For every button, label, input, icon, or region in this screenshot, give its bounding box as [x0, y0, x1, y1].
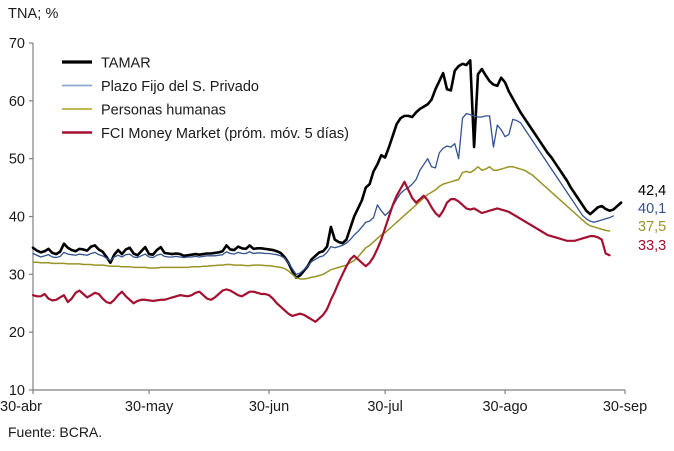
- x-axis: 30-abr30-may30-jun30-jul30-ago30-sep: [0, 390, 647, 415]
- x-tick-label: 30-sep: [603, 399, 647, 415]
- y-tick-label: 10: [9, 383, 25, 399]
- y-tick-label: 40: [9, 210, 25, 226]
- x-tick-label: 30-may: [125, 399, 174, 415]
- series-end-label: 40,1: [638, 201, 666, 217]
- y-tick-label: 30: [9, 267, 25, 283]
- y-tick-label: 20: [9, 325, 25, 341]
- chart-container: TNA; % 10203040506070 30-abr30-may30-jun…: [0, 0, 674, 451]
- chart-plot-svg: 10203040506070 30-abr30-may30-jun30-jul3…: [0, 0, 674, 451]
- series-end-label: 33,3: [638, 238, 666, 254]
- y-tick-label: 50: [9, 152, 25, 168]
- source-note: Fuente: BCRA.: [8, 424, 102, 440]
- legend-label: Personas humanas: [101, 103, 226, 119]
- x-tick-label: 30-jun: [249, 399, 289, 415]
- x-tick-label: 30-jul: [367, 399, 402, 415]
- legend-label: Plazo Fijo del S. Privado: [101, 79, 259, 95]
- end-value-labels: 42,440,137,533,3: [638, 183, 666, 254]
- y-tick-label: 60: [9, 94, 25, 110]
- legend-label: TAMAR: [101, 56, 151, 72]
- x-tick-label: 30-ago: [482, 399, 527, 415]
- series-line: [33, 167, 610, 279]
- y-axis-title: TNA; %: [8, 6, 59, 22]
- series-lines: [33, 60, 621, 321]
- y-axis: 10203040506070: [9, 36, 33, 399]
- chart-legend: TAMARPlazo Fijo del S. PrivadoPersonas h…: [62, 56, 349, 143]
- x-tick-label: 30-abr: [0, 399, 42, 415]
- series-end-label: 42,4: [638, 183, 666, 199]
- legend-label: FCI Money Market (próm. móv. 5 días): [101, 126, 349, 142]
- series-end-label: 37,5: [638, 219, 666, 235]
- y-tick-label: 70: [9, 36, 25, 52]
